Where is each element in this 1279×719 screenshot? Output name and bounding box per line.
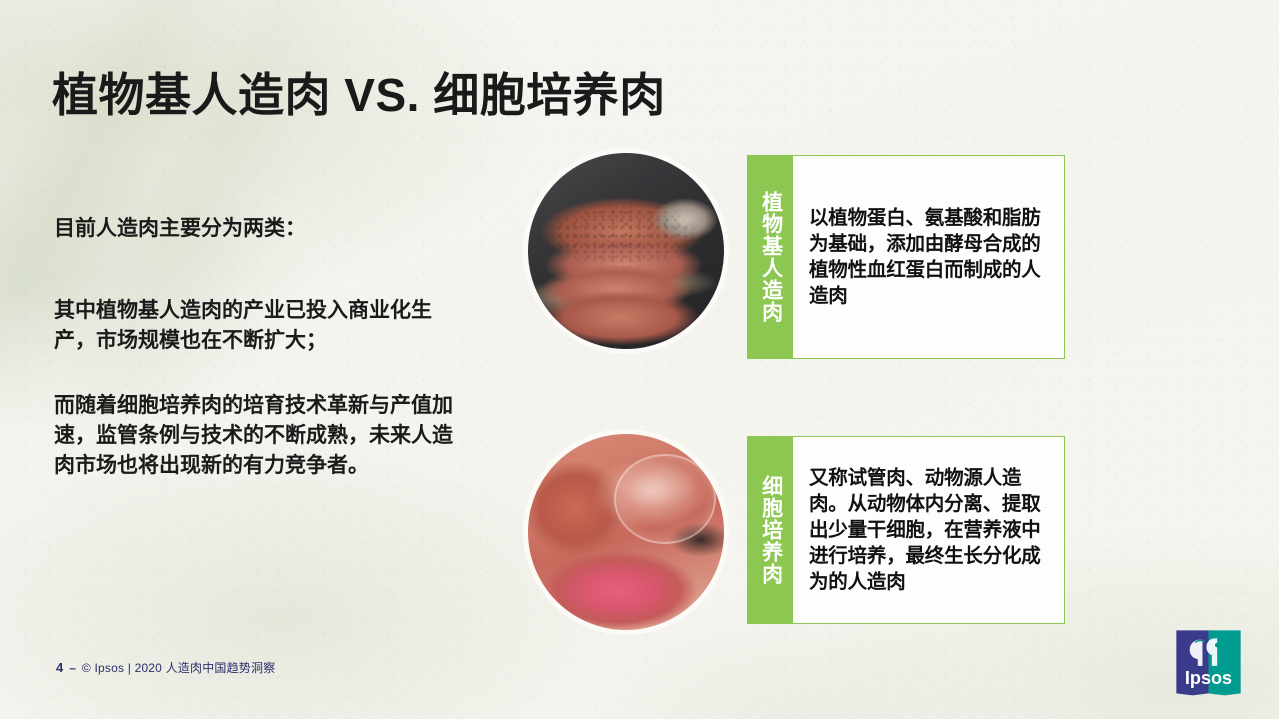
- slide-footer: 4 – © Ipsos | 2020 人造肉中国趋势洞察: [56, 659, 275, 676]
- card-description-plant-based: 以植物蛋白、氨基酸和脂肪为基础，添加由酵母合成的植物性血红蛋白而制成的人造肉: [809, 205, 1050, 310]
- comparison-card-plant-based: 植物基人造肉 以植物蛋白、氨基酸和脂肪为基础，添加由酵母合成的植物性血红蛋白而制…: [747, 155, 1065, 359]
- body-text-column: 目前人造肉主要分为两类： 其中植物基人造肉的产业已投入商业化生产，市场规模也在不…: [54, 214, 454, 481]
- dish-photo-image: [528, 434, 724, 630]
- footer-credit: © Ipsos | 2020 人造肉中国趋势洞察: [82, 659, 275, 676]
- body-paragraph-cultured: 而随着细胞培养肉的培育技术革新与产值加速，监管条例与技术的不断成熟，未来人造肉市…: [54, 391, 454, 480]
- card-body-cultured: 又称试管肉、动物源人造肉。从动物体内分离、提取出少量干细胞，在营养液中进行培养，…: [793, 437, 1064, 623]
- lead-paragraph: 目前人造肉主要分为两类：: [54, 214, 454, 244]
- page-title: 植物基人造肉 VS. 细胞培养肉: [52, 59, 666, 125]
- stacked-raw-burger-patties-photo: [528, 153, 724, 349]
- body-paragraph-plant-based: 其中植物基人造肉的产业已投入商业化生产，市场规模也在不断扩大；: [54, 296, 454, 356]
- lab-cultured-meat-dish-photo: [528, 434, 724, 630]
- card-tab-label-cultured: 细胞培养肉: [748, 437, 793, 623]
- patties-photo-image: [528, 153, 724, 349]
- comparison-card-cultured: 细胞培养肉 又称试管肉、动物源人造肉。从动物体内分离、提取出少量干细胞，在营养液…: [747, 436, 1065, 624]
- slide-root: 植物基人造肉 VS. 细胞培养肉 目前人造肉主要分为两类： 其中植物基人造肉的产…: [0, 0, 1279, 719]
- ipsos-logo: Ipsos: [1175, 629, 1242, 696]
- page-number: 4: [56, 660, 63, 675]
- footer-dash: –: [69, 661, 76, 675]
- card-body-plant-based: 以植物蛋白、氨基酸和脂肪为基础，添加由酵母合成的植物性血红蛋白而制成的人造肉: [793, 156, 1064, 358]
- card-description-cultured: 又称试管肉、动物源人造肉。从动物体内分离、提取出少量干细胞，在营养液中进行培养，…: [809, 465, 1050, 596]
- ipsos-wordmark: Ipsos: [1185, 668, 1232, 688]
- card-tab-label-plant-based: 植物基人造肉: [748, 156, 793, 358]
